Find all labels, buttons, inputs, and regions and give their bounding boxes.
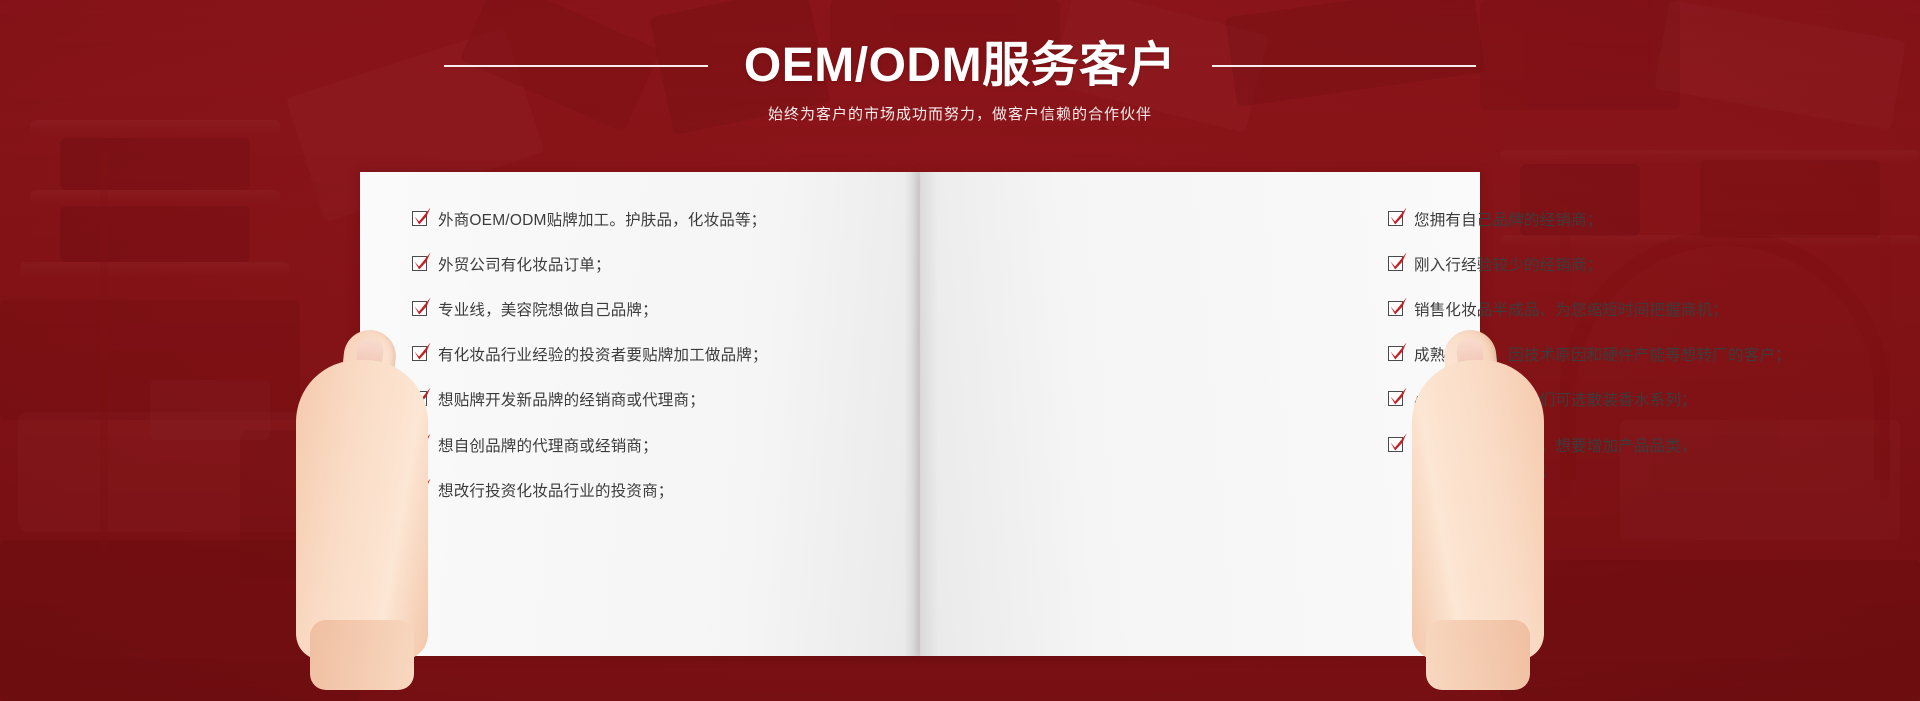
- list-item: 销售化妆品半成品、为您缩短时间把握商机；: [1388, 298, 1888, 323]
- checkbox-checked-icon: [412, 211, 427, 226]
- checkbox-checked-icon: [1388, 256, 1403, 271]
- title-rule-right: [1212, 65, 1476, 67]
- list-item: 外贸公司有化妆品订单；: [412, 253, 892, 278]
- list-item: 外商OEM/ODM贴牌加工。护肤品，化妆品等；: [412, 208, 892, 233]
- title-rule-left: [444, 65, 708, 67]
- checkbox-checked-icon: [1388, 346, 1403, 361]
- checkbox-checked-icon: [1388, 301, 1403, 316]
- list-item-label: 刚入行经验较少的经销商；: [1414, 253, 1602, 278]
- list-item-label: 外贸公司有化妆品订单；: [438, 253, 611, 278]
- list-item-label: 想自创品牌的代理商或经销商；: [438, 434, 658, 459]
- left-checklist: 外商OEM/ODM贴牌加工。护肤品，化妆品等； 外贸公司有化妆品订单； 专业线，…: [412, 208, 892, 504]
- list-item: 想自创品牌的代理商或经销商；: [412, 434, 892, 459]
- right-hand-wrist: [1426, 620, 1530, 690]
- list-item: 想贴牌开发新品牌的经销商或代理商；: [412, 388, 892, 413]
- checkbox-checked-icon: [1388, 211, 1403, 226]
- list-item-label: 外商OEM/ODM贴牌加工。护肤品，化妆品等；: [438, 208, 766, 233]
- book-page-right: 您拥有自己品牌的经销商； 刚入行经验较少的经销商； 销售化妆品半成品、为您缩短时…: [920, 172, 1480, 656]
- book-page-left: 外商OEM/ODM贴牌加工。护肤品，化妆品等； 外贸公司有化妆品订单； 专业线，…: [360, 172, 920, 656]
- list-item-label: 您拥有自己品牌的经销商；: [1414, 208, 1602, 233]
- oem-odm-service-banner: OEM/ODM服务客户 始终为客户的市场成功而努力，做客户信赖的合作伙伴 外商O…: [0, 0, 1920, 701]
- left-hand-wrist: [310, 620, 414, 690]
- list-item: 想改行投资化妆品行业的投资商；: [412, 479, 892, 504]
- left-hand-palm: [296, 360, 428, 660]
- right-hand-palm: [1412, 360, 1544, 660]
- list-item: 专业线，美容院想做自己品牌；: [412, 298, 892, 323]
- list-item: 刚入行经验较少的经销商；: [1388, 253, 1888, 278]
- left-hand: [296, 330, 428, 660]
- checkbox-checked-icon: [1388, 437, 1403, 452]
- checkbox-checked-icon: [412, 301, 427, 316]
- checkbox-checked-icon: [412, 256, 427, 271]
- page-subtitle: 始终为客户的市场成功而努力，做客户信赖的合作伙伴: [0, 103, 1920, 124]
- open-book: 外商OEM/ODM贴牌加工。护肤品，化妆品等； 外贸公司有化妆品订单； 专业线，…: [360, 172, 1480, 656]
- list-item-label: 有化妆品行业经验的投资者要贴牌加工做品牌；: [438, 343, 768, 368]
- checkbox-checked-icon: [1388, 391, 1403, 406]
- page-title: OEM/ODM服务客户: [744, 42, 1176, 90]
- list-item-label: 销售化妆品半成品、为您缩短时间把握商机；: [1414, 298, 1728, 323]
- list-item-label: 专业线，美容院想做自己品牌；: [438, 298, 658, 323]
- list-item: 您拥有自己品牌的经销商；: [1388, 208, 1888, 233]
- title-row: OEM/ODM服务客户: [0, 34, 1920, 98]
- book-spine: [905, 172, 937, 656]
- list-item: 有化妆品行业经验的投资者要贴牌加工做品牌；: [412, 343, 892, 368]
- list-item-label: 想贴牌开发新品牌的经销商或代理商；: [438, 388, 705, 413]
- right-hand: [1412, 330, 1544, 660]
- list-item-label: 想改行投资化妆品行业的投资商；: [438, 479, 674, 504]
